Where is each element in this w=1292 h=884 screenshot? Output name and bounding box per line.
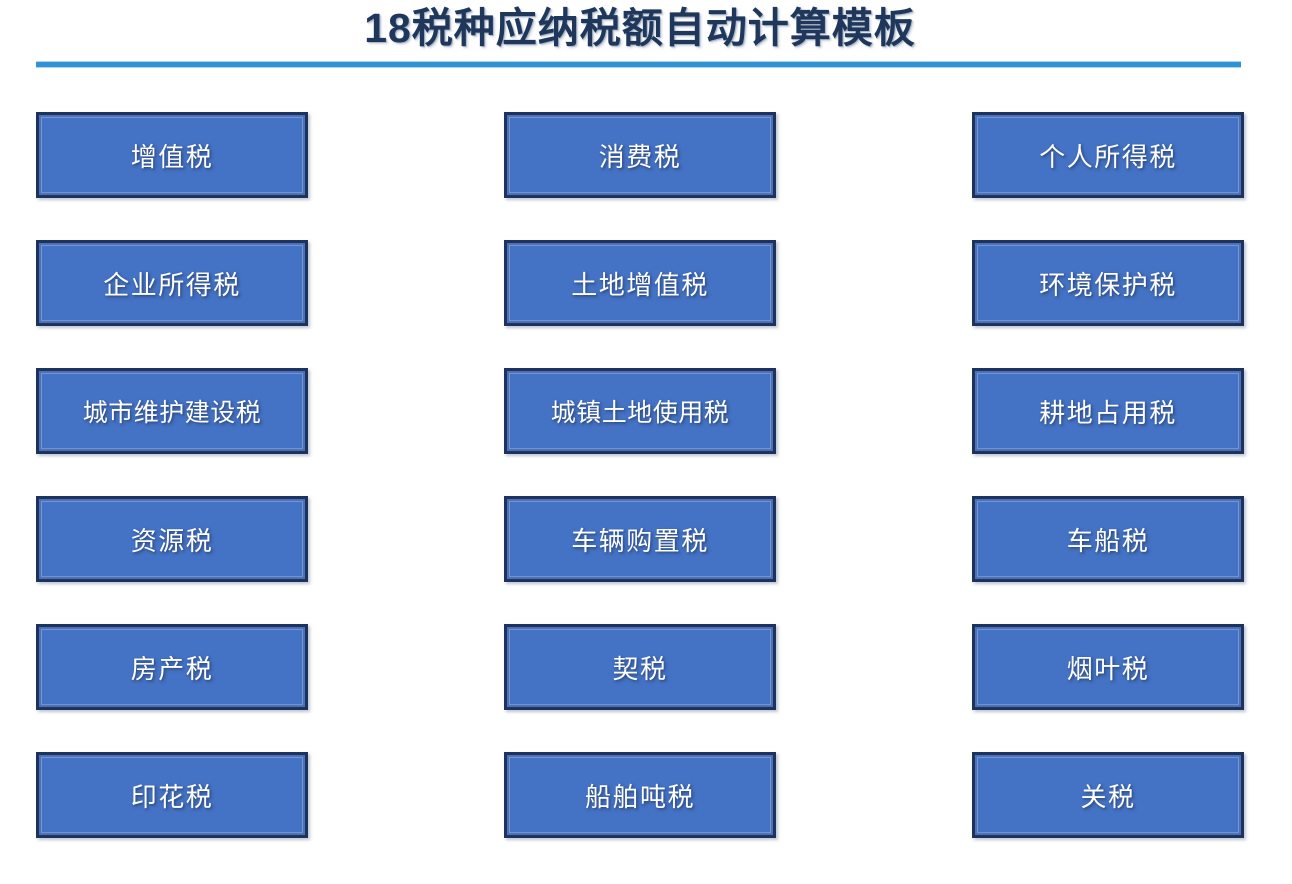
tax-box-label: 烟叶税	[1067, 649, 1150, 686]
tax-box-label: 城镇土地使用税	[551, 393, 730, 429]
tax-box-label: 车船税	[1067, 521, 1150, 558]
tax-box-label: 环境保护税	[1039, 265, 1177, 302]
tax-box-label: 关税	[1080, 777, 1135, 814]
tax-box-fangchanshui[interactable]: 房产税	[36, 624, 308, 710]
tax-box-zengzhishui[interactable]: 增值税	[36, 112, 308, 198]
tax-box-cheliang-gouzhishui[interactable]: 车辆购置税	[504, 496, 776, 582]
tax-box-gengdizhanyongshui[interactable]: 耕地占用税	[972, 368, 1244, 454]
tax-box-chengzhentudishiyongshui[interactable]: 城镇土地使用税	[504, 368, 776, 454]
tax-box-label: 契税	[612, 649, 667, 686]
tax-box-chechuanshui[interactable]: 车船税	[972, 496, 1244, 582]
tax-box-label: 土地增值税	[571, 265, 709, 302]
tax-box-yinhuashui[interactable]: 印花税	[36, 752, 308, 838]
tax-box-qishui[interactable]: 契税	[504, 624, 776, 710]
tax-box-chengshiweihujianosheshui[interactable]: 城市维护建设税	[36, 368, 308, 454]
tax-box-yanyeshui[interactable]: 烟叶税	[972, 624, 1244, 710]
tax-box-huanjingbaohushui[interactable]: 环境保护税	[972, 240, 1244, 326]
tax-box-label: 城市维护建设税	[83, 393, 262, 429]
tax-box-ziyuanshui[interactable]: 资源税	[36, 496, 308, 582]
tax-box-label: 耕地占用税	[1039, 393, 1177, 430]
tax-box-label: 车辆购置税	[571, 521, 709, 558]
tax-box-label: 企业所得税	[103, 265, 241, 302]
tax-box-label: 房产税	[131, 649, 214, 686]
title-divider-rule	[36, 61, 1241, 68]
tax-box-guanshui[interactable]: 关税	[972, 752, 1244, 838]
tax-box-label: 资源税	[131, 521, 214, 558]
tax-box-chuanbodunshui[interactable]: 船舶吨税	[504, 752, 776, 838]
tax-box-label: 消费税	[599, 137, 682, 174]
tax-box-label: 个人所得税	[1039, 137, 1177, 174]
tax-box-tudizengzhishui[interactable]: 土地增值税	[504, 240, 776, 326]
tax-box-gerensuodeshui[interactable]: 个人所得税	[972, 112, 1244, 198]
tax-box-label: 印花税	[131, 777, 214, 814]
tax-box-label: 增值税	[131, 137, 214, 174]
page-title: 18税种应纳税额自动计算模板	[0, 2, 1280, 54]
tax-box-label: 船舶吨税	[585, 777, 695, 814]
tax-box-qiyesuodeshui[interactable]: 企业所得税	[36, 240, 308, 326]
tax-box-xiaofeishui[interactable]: 消费税	[504, 112, 776, 198]
tax-type-grid: 增值税 企业所得税 城市维护建设税 资源税 房产税 印花税 消费税 土地增值税 …	[0, 100, 1292, 884]
page-header: 18税种应纳税额自动计算模板	[0, 0, 1292, 80]
